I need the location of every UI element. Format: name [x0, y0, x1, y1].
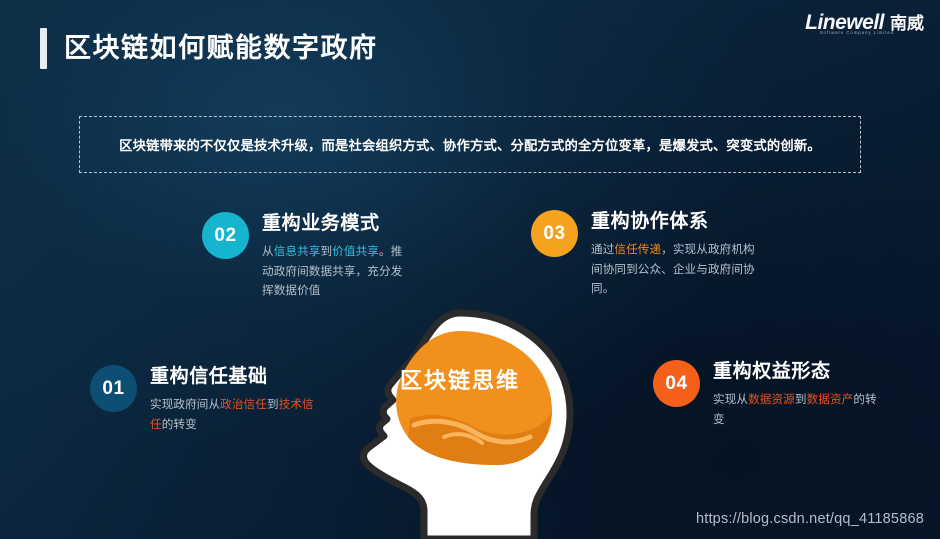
- item-03-body: 重构协作体系 通过信任传递，实现从政府机构间协同到公众、企业与政府间协同。: [591, 210, 760, 298]
- item-01-description: 实现政府间从政治信任到技术信任的转变: [150, 395, 318, 433]
- item-03-description: 通过信任传递，实现从政府机构间协同到公众、企业与政府间协同。: [591, 240, 760, 297]
- item-04[interactable]: 04 重构权益形态 实现从数据资源到数据资产的转变: [653, 360, 888, 429]
- item-03-badge: 03: [531, 210, 578, 257]
- head-brain-graphic: 区块链思维: [324, 307, 596, 539]
- head-silhouette-icon: [324, 307, 596, 539]
- item-02[interactable]: 02 重构业务模式 从信息共享到价值共享。推动政府间数据共享，充分发挥数据价值: [202, 212, 410, 300]
- page-title: 区块链如何赋能数字政府: [40, 28, 378, 69]
- logo-chinese-name: 南威: [890, 15, 924, 33]
- item-01-heading: 重构信任基础: [150, 366, 318, 388]
- item-01-badge: 01: [90, 365, 137, 412]
- item-03[interactable]: 03 重构协作体系 通过信任传递，实现从政府机构间协同到公众、企业与政府间协同。: [531, 210, 760, 298]
- item-01[interactable]: 01 重构信任基础 实现政府间从政治信任到技术信任的转变: [90, 365, 318, 434]
- item-04-badge: 04: [653, 360, 700, 407]
- title-text: 区块链如何赋能数字政府: [64, 35, 378, 62]
- item-02-heading: 重构业务模式: [262, 213, 410, 235]
- logo-tagline: Software Company Limited: [820, 30, 894, 35]
- item-02-body: 重构业务模式 从信息共享到价值共享。推动政府间数据共享，充分发挥数据价值: [262, 212, 410, 300]
- item-03-heading: 重构协作体系: [591, 211, 760, 233]
- slide-canvas: 区块链如何赋能数字政府 Linewell 南威 Software Company…: [0, 0, 940, 539]
- item-02-description: 从信息共享到价值共享。推动政府间数据共享，充分发挥数据价值: [262, 242, 410, 299]
- item-01-body: 重构信任基础 实现政府间从政治信任到技术信任的转变: [150, 365, 318, 434]
- item-04-body: 重构权益形态 实现从数据资源到数据资产的转变: [713, 360, 888, 429]
- statement-text: 区块链带来的不仅仅是技术升级，而是社会组织方式、协作方式、分配方式的全方位变革，…: [119, 135, 821, 154]
- watermark: https://blog.csdn.net/qq_41185868: [696, 511, 924, 527]
- item-04-heading: 重构权益形态: [713, 361, 888, 383]
- item-04-description: 实现从数据资源到数据资产的转变: [713, 390, 888, 428]
- statement-box: 区块链带来的不仅仅是技术升级，而是社会组织方式、协作方式、分配方式的全方位变革，…: [79, 116, 861, 173]
- title-accent-bar: [40, 28, 47, 69]
- item-02-badge: 02: [202, 212, 249, 259]
